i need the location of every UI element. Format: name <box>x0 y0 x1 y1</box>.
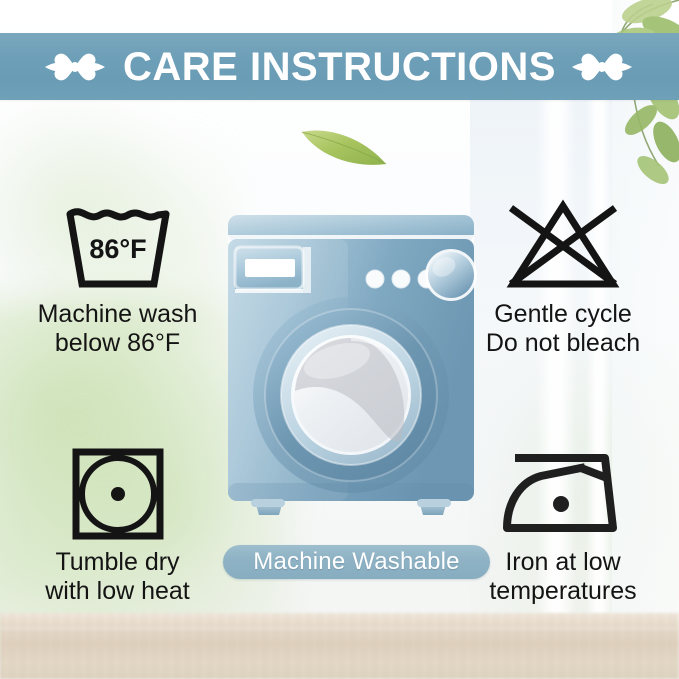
caption-line-2: with low heat <box>10 577 225 606</box>
table-edge-highlight <box>0 628 679 631</box>
banner: CARE INSTRUCTIONS <box>0 33 679 100</box>
table-grain <box>0 613 679 679</box>
care-symbol-iron-low: Iron at low temperatures <box>452 440 674 606</box>
floating-leaf-decoration <box>298 120 393 175</box>
badge-label: Machine Washable <box>253 550 459 574</box>
page-title: CARE INSTRUCTIONS <box>123 47 556 87</box>
washing-machine-illustration <box>225 213 477 529</box>
machine-washable-badge: Machine Washable <box>223 545 490 579</box>
wash-temperature-value: 86°F <box>89 234 146 264</box>
caption-line-2: below 86°F <box>10 329 225 358</box>
wash-tub-icon: 86°F <box>10 192 225 300</box>
caption-line-1: Gentle cycle <box>494 300 632 328</box>
fleur-de-lis-icon-right <box>572 44 634 90</box>
care-symbol-tumble-dry: Tumble dry with low heat <box>10 440 225 606</box>
care-caption-machine-wash: Machine wash below 86°F <box>10 300 225 358</box>
care-caption-tumble-dry: Tumble dry with low heat <box>10 548 225 606</box>
care-instructions-graphic: CARE INSTRUCTIONS 86°F Machine w <box>0 0 679 679</box>
caption-line-1: Tumble dry <box>55 548 179 576</box>
caption-line-2: temperatures <box>452 577 674 606</box>
tumble-dry-icon <box>10 440 225 548</box>
care-caption-do-not-bleach: Gentle cycle Do not bleach <box>452 300 674 358</box>
iron-icon <box>452 440 674 548</box>
triangle-crossed-icon <box>452 192 674 300</box>
caption-line-1: Iron at low <box>505 548 620 576</box>
caption-line-2: Do not bleach <box>452 329 674 358</box>
caption-line-1: Machine wash <box>38 300 198 328</box>
fleur-de-lis-icon-left <box>45 44 107 90</box>
care-symbol-do-not-bleach: Gentle cycle Do not bleach <box>452 192 674 358</box>
care-symbol-machine-wash: 86°F Machine wash below 86°F <box>10 192 225 358</box>
